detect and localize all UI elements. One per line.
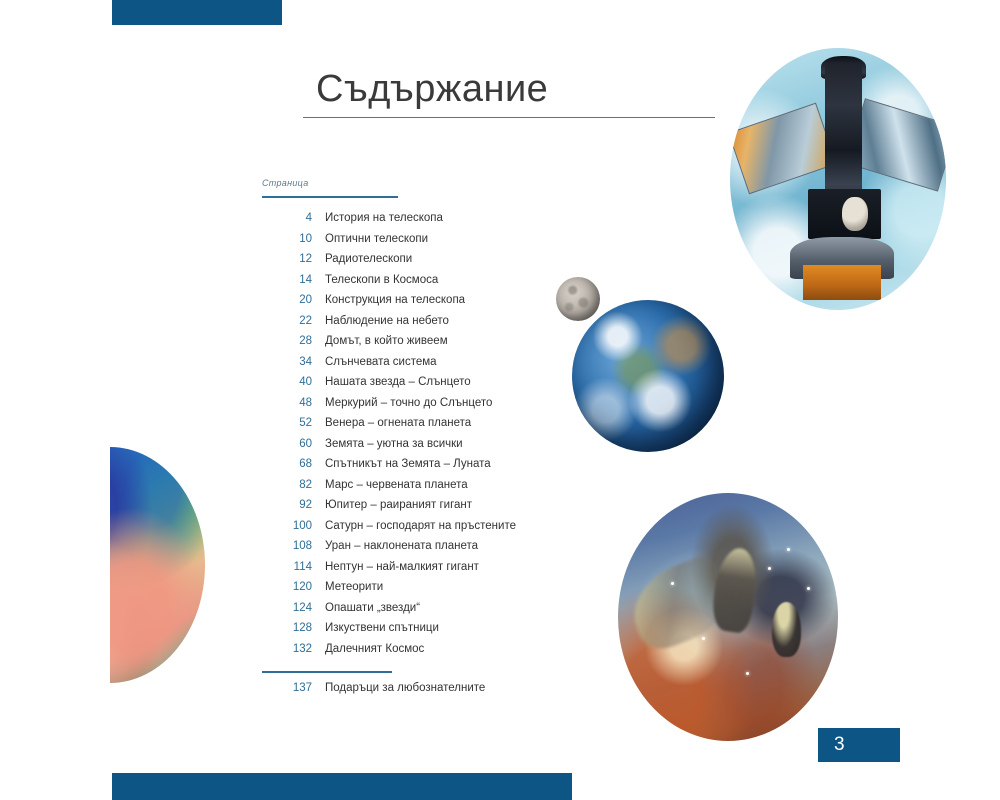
book-contents-page: Съдържание Страница 4История на телескоп…: [0, 0, 1000, 800]
toc-entry[interactable]: 132Далечният Космос: [262, 643, 602, 664]
toc-entry-title: Радиотелескопи: [325, 253, 412, 265]
nebula-photo: [618, 493, 838, 741]
hubble-space-telescope-photo: [730, 48, 946, 310]
toc-page-number: 114: [262, 561, 312, 573]
toc-entry-title: Домът, в който живеем: [325, 335, 448, 347]
shuttle-equipment: [803, 265, 881, 299]
bottom-accent-bar: [112, 773, 572, 800]
toc-page-number: 100: [262, 520, 312, 532]
toc-page-number: 68: [262, 458, 312, 470]
star: [807, 587, 810, 590]
toc-page-number: 4: [262, 212, 312, 224]
toc-entry[interactable]: 120Метеорити: [262, 581, 602, 602]
toc-entry-appendix[interactable]: 137 Подаръци за любознателните: [262, 682, 602, 703]
toc-entry-title: Конструкция на телескопа: [325, 294, 465, 306]
star: [702, 637, 705, 640]
toc-entry[interactable]: 52Венера – огнената планета: [262, 417, 602, 438]
toc-entry[interactable]: 34Слънчевата система: [262, 356, 602, 377]
astronaut: [842, 197, 868, 231]
toc-entry[interactable]: 28Домът, в който живеем: [262, 335, 602, 356]
toc-entry-title: Юпитер – раираният гигант: [325, 499, 472, 511]
toc-page-number: 137: [262, 682, 312, 694]
toc-entry-title: Далечният Космос: [325, 643, 424, 655]
toc-page-number: 40: [262, 376, 312, 388]
venus-surface: [110, 447, 205, 683]
toc-entry[interactable]: 22Наблюдение на небето: [262, 315, 602, 336]
toc-entry[interactable]: 20Конструкция на телескопа: [262, 294, 602, 315]
toc-page-number: 82: [262, 479, 312, 491]
toc-page-number: 108: [262, 540, 312, 552]
venus-radar-map-photo: [110, 447, 205, 683]
toc-entry[interactable]: 124Опашати „звезди“: [262, 602, 602, 623]
toc-entry[interactable]: 48Меркурий – точно до Слънцето: [262, 397, 602, 418]
toc-entry[interactable]: 10Оптични телескопи: [262, 233, 602, 254]
toc-page-number: 20: [262, 294, 312, 306]
toc-entry-title: Слънчевата система: [325, 356, 437, 368]
star: [746, 672, 749, 675]
solar-panel-left: [730, 103, 837, 195]
toc-page-number: 120: [262, 581, 312, 593]
toc-page-number: 10: [262, 233, 312, 245]
toc-entry[interactable]: 128Изкуствени спътници: [262, 622, 602, 643]
toc-page-number: 132: [262, 643, 312, 655]
toc-page-number: 28: [262, 335, 312, 347]
star: [768, 567, 771, 570]
page-column-label: Страница: [262, 178, 309, 188]
toc-entry-title: Сатурн – господарят на пръстените: [325, 520, 516, 532]
toc-entry-title: Земята – уютна за всички: [325, 438, 463, 450]
toc-page-number: 48: [262, 397, 312, 409]
toc-entry[interactable]: 4История на телескопа: [262, 212, 602, 233]
toc-entry[interactable]: 60Земята – уютна за всички: [262, 438, 602, 459]
title-divider: [303, 117, 715, 118]
toc-page-number: 34: [262, 356, 312, 368]
toc-page-number: 22: [262, 315, 312, 327]
toc-entry-title: Нептун – най-малкият гигант: [325, 561, 479, 573]
toc-entry[interactable]: 92Юпитер – раираният гигант: [262, 499, 602, 520]
toc-entry-title: Наблюдение на небето: [325, 315, 449, 327]
toc-entry-title: Метеорити: [325, 581, 383, 593]
toc-entry[interactable]: 40Нашата звезда – Слънцето: [262, 376, 602, 397]
star: [787, 548, 790, 551]
toc-entry[interactable]: 14Телескопи в Космоса: [262, 274, 602, 295]
toc-entry-title: Опашати „звезди“: [325, 602, 420, 614]
toc-appendix-divider: [262, 671, 392, 673]
toc-entry-title: Подаръци за любознателните: [325, 682, 485, 694]
toc-entry[interactable]: 100Сатурн – господарят на пръстените: [262, 520, 602, 541]
toc-entry[interactable]: 82Марс – червената планета: [262, 479, 602, 500]
toc-entry-title: Марс – червената планета: [325, 479, 468, 491]
nebula-dark-globule: [772, 602, 801, 657]
toc-page-number: 128: [262, 622, 312, 634]
page-column-divider: [262, 196, 398, 198]
toc-entry-title: Спътникът на Земята – Луната: [325, 458, 491, 470]
toc-page-number: 52: [262, 417, 312, 429]
toc-entry-title: Венера – огнената планета: [325, 417, 471, 429]
toc-entry-title: Нашата звезда – Слънцето: [325, 376, 471, 388]
nebula-dust-pillar: [709, 545, 760, 634]
toc-entry[interactable]: 108Уран – наклонената планета: [262, 540, 602, 561]
toc-page-number: 14: [262, 274, 312, 286]
toc-entry-title: История на телескопа: [325, 212, 443, 224]
toc-entry[interactable]: 68Спътникът на Земята – Луната: [262, 458, 602, 479]
toc-page-number: 12: [262, 253, 312, 265]
toc-entry[interactable]: 114Нептун – най-малкият гигант: [262, 561, 602, 582]
top-accent-bar: [112, 0, 282, 25]
toc-entry-title: Изкуствени спътници: [325, 622, 439, 634]
toc-entry-title: Уран – наклонената планета: [325, 540, 478, 552]
toc-entry-title: Оптични телескопи: [325, 233, 428, 245]
toc-page-number: 92: [262, 499, 312, 511]
toc-entry-title: Меркурий – точно до Слънцето: [325, 397, 492, 409]
toc-page-number: 60: [262, 438, 312, 450]
table-of-contents: 4История на телескопа10Оптични телескопи…: [262, 212, 602, 703]
toc-entry-title: Телескопи в Космоса: [325, 274, 438, 286]
page-number-badge: 3: [818, 728, 900, 762]
page-title: Съдържание: [316, 68, 548, 111]
toc-entry[interactable]: 12Радиотелескопи: [262, 253, 602, 274]
toc-page-number: 124: [262, 602, 312, 614]
